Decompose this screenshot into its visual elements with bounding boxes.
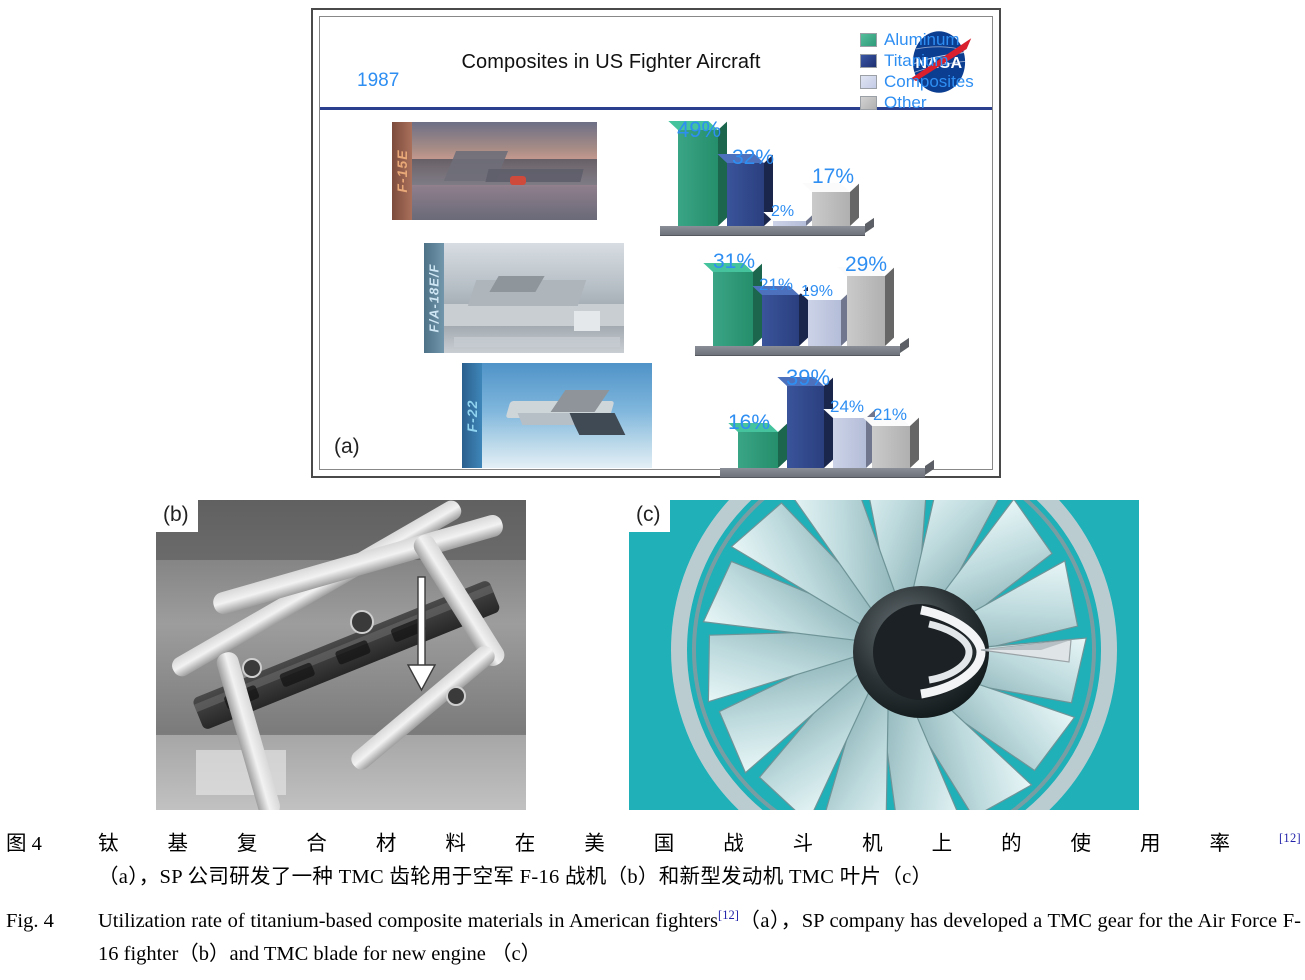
bar-titanium (787, 386, 824, 468)
citation-ref: [12] (1279, 831, 1301, 845)
bar-label-composites: 2% (771, 203, 794, 221)
f-22-label-tab: F-22 (462, 363, 482, 468)
caption-zh-tag: 图 4 (6, 828, 98, 861)
chart-base (660, 226, 865, 235)
bar-composites (773, 221, 806, 226)
figure-caption: 图 4 钛基复合材料在美国战斗机上的使用率[12]（a），SP 公司研发了一种 … (6, 828, 1301, 971)
tmc-blade-fan-photo: (c) (629, 500, 1139, 810)
year-label: 1987 (357, 70, 399, 92)
legend-item-composites: Composites (860, 71, 974, 92)
bar-label-titanium: 32% (732, 146, 774, 170)
legend-swatch-aluminum (860, 33, 877, 47)
f-15e-label-tab: F-15E (392, 122, 412, 220)
bar-group-f-15e: 49% 32% 2% 17% (660, 117, 895, 235)
bar-aluminum (678, 130, 718, 226)
bar-titanium (762, 295, 799, 346)
bar-label-aluminum: 31% (713, 250, 755, 274)
bar-label-titanium: 21% (759, 275, 793, 295)
f-22-photo: F-22 (462, 363, 652, 468)
panel-label-a: (a) (334, 435, 360, 459)
bar-label-aluminum: 16% (728, 411, 770, 435)
legend-item-other: Other (860, 92, 974, 113)
fa-18ef-label-tab: F/A-18E/F (424, 243, 444, 353)
caption-zh-text-1: 钛基复合材料在美国战斗机上的使用率 (98, 833, 1279, 855)
legend-label-composites: Composites (884, 73, 974, 90)
legend-swatch-titanium (860, 54, 877, 68)
bar-group-f-22: 16% 39% 24% 21% (720, 361, 955, 477)
chart-row-fa-18ef: F/A-18E/F 31% 21% (320, 239, 992, 357)
chart-row-f-15e: F-15E 49% 32% (320, 117, 992, 237)
caption-zh-text-2: （a），SP 公司研发了一种 TMC 齿轮用于空军 F-16 战机（b）和新型发… (98, 866, 932, 888)
slide-panel-a: Composites in US Fighter Aircraft NASA 1… (311, 8, 1001, 478)
chart-legend: Aluminum Titanium Composites Other (860, 29, 974, 113)
tmc-gear-illustration (156, 500, 526, 810)
caption-chinese: 图 4 钛基复合材料在美国战斗机上的使用率[12]（a），SP 公司研发了一种 … (6, 828, 1301, 894)
bar-group-fa-18ef: 31% 21% 19% 29% (695, 239, 930, 355)
caption-zh-body: 钛基复合材料在美国战斗机上的使用率[12]（a），SP 公司研发了一种 TMC … (98, 828, 1301, 894)
bar-titanium (727, 163, 764, 226)
legend-item-titanium: Titanium (860, 50, 974, 71)
legend-label-titanium: Titanium (884, 52, 949, 69)
bar-label-other: 21% (873, 405, 907, 425)
citation-ref: [12] (718, 908, 739, 922)
legend-label-other: Other (884, 94, 927, 111)
bar-aluminum (713, 272, 753, 346)
chart-row-f-22: F-22 16% 39% (320, 361, 992, 479)
panel-label-b: (b) (156, 500, 198, 532)
legend-item-aluminum: Aluminum (860, 29, 974, 50)
fan-illustration (629, 500, 1139, 810)
bar-label-other: 29% (845, 253, 887, 277)
caption-en-body: Utilization rate of titanium-based compo… (98, 905, 1301, 971)
bar-label-composites: 19% (801, 283, 833, 301)
bar-label-aluminum: 49% (677, 117, 721, 143)
legend-swatch-other (860, 96, 877, 110)
legend-label-aluminum: Aluminum (884, 31, 960, 48)
caption-english: Fig. 4 Utilization rate of titanium-base… (6, 905, 1301, 971)
panel-label-c: (c) (629, 500, 670, 532)
chart-base (720, 468, 925, 477)
bar-composites (808, 300, 841, 346)
f-22-label: F-22 (464, 399, 480, 432)
fa-18ef-photo: F/A-18E/F (424, 243, 624, 353)
caption-en-text-1: Utilization rate of titanium-based compo… (98, 910, 718, 932)
f-15e-label: F-15E (394, 149, 410, 192)
bar-other (847, 276, 885, 346)
caption-en-tag: Fig. 4 (6, 905, 98, 938)
fa-18ef-label: F/A-18E/F (427, 264, 442, 333)
bar-aluminum (738, 432, 778, 468)
chart-base (695, 346, 900, 355)
bar-label-titanium: 39% (786, 365, 830, 391)
legend-swatch-composites (860, 75, 877, 89)
bar-label-composites: 24% (830, 397, 864, 417)
bar-composites (833, 418, 866, 468)
tmc-gear-photo: (b) (156, 500, 526, 810)
f-15e-photo: F-15E (392, 122, 597, 220)
slide-inner-frame: Composites in US Fighter Aircraft NASA 1… (319, 16, 993, 470)
bar-other (872, 426, 910, 468)
bar-label-other: 17% (812, 165, 854, 189)
bar-other (812, 192, 850, 226)
